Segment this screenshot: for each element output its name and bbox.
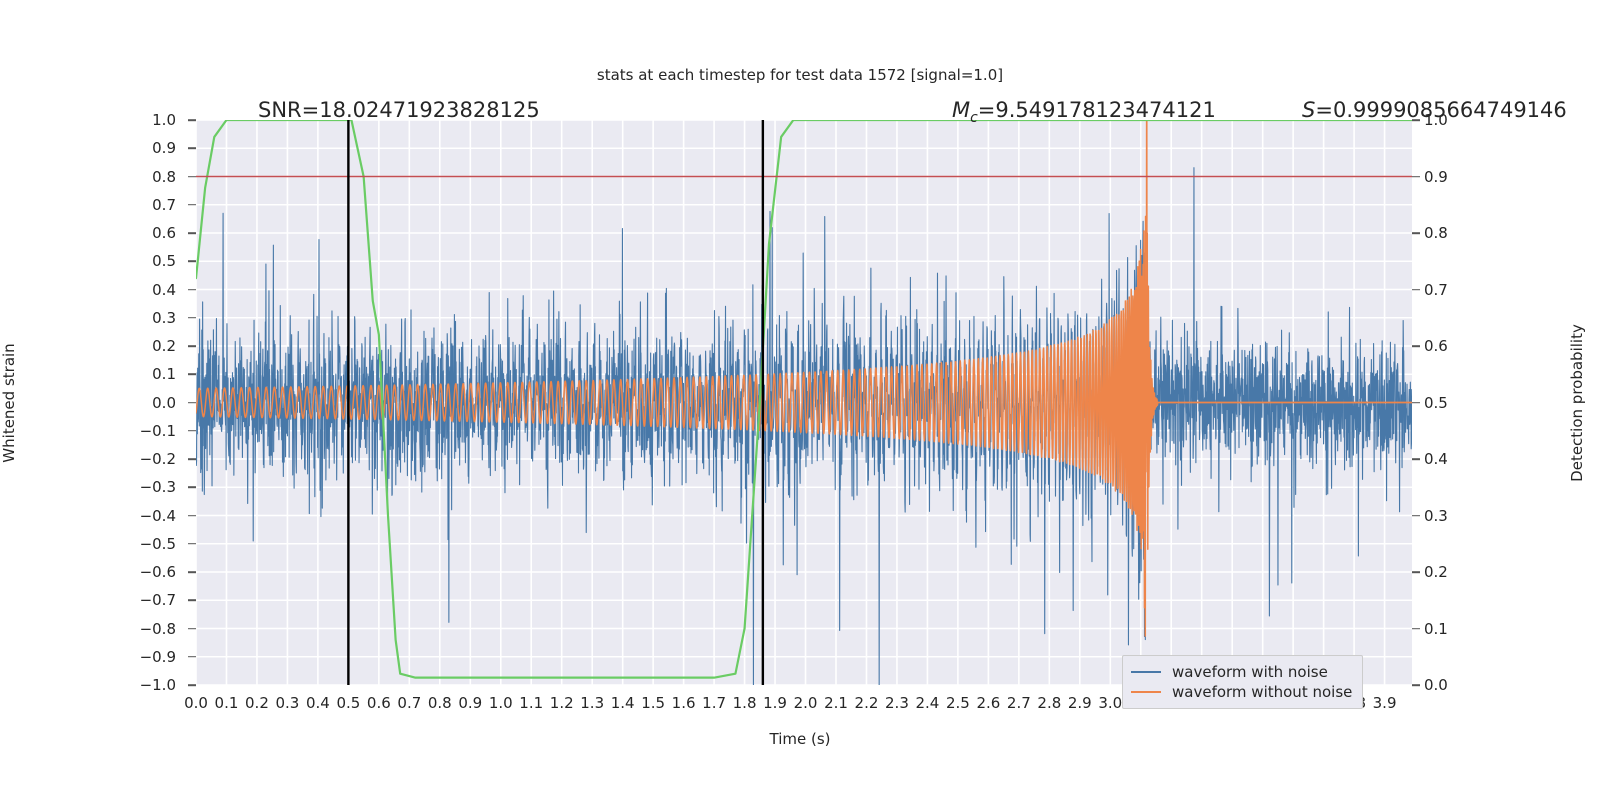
- y-tick-label-left: 0.8: [152, 168, 188, 186]
- x-tick-label: 1.9: [763, 694, 787, 712]
- y-tick-label-left: −0.5: [140, 535, 188, 553]
- annotation-chirp-mass-value: 9.549178123474121: [995, 98, 1215, 122]
- y-tick-mark-left: [188, 345, 196, 347]
- x-tick-label: 0.6: [367, 694, 391, 712]
- y-tick-label-right: 0.5: [1424, 394, 1448, 412]
- annotation-score-symbol: S: [1302, 98, 1315, 122]
- y-tick-mark-left: [188, 204, 196, 206]
- y-axis-label-right: Detection probability: [1568, 324, 1586, 482]
- y-tick-mark-left: [188, 373, 196, 375]
- y-tick-mark-left: [188, 232, 196, 234]
- x-tick-label: 2.9: [1068, 694, 1092, 712]
- x-tick-label: 1.8: [733, 694, 757, 712]
- x-tick-label: 1.3: [580, 694, 604, 712]
- y-tick-label-left: 0.9: [152, 139, 188, 157]
- legend-swatch: [1131, 671, 1161, 673]
- y-tick-mark-right: [1412, 515, 1420, 517]
- legend-item[interactable]: waveform without noise: [1131, 682, 1352, 702]
- y-tick-mark-left: [188, 599, 196, 601]
- x-tick-label: 0.2: [245, 694, 269, 712]
- x-tick-label: 0.3: [275, 694, 299, 712]
- y-tick-mark-left: [188, 317, 196, 319]
- plot-area: [196, 120, 1412, 685]
- y-tick-mark-left: [188, 656, 196, 658]
- x-tick-label: 0.8: [428, 694, 452, 712]
- plot-canvas: [196, 120, 1412, 685]
- x-tick-label: 1.0: [489, 694, 513, 712]
- y-tick-mark-left: [188, 486, 196, 488]
- y-tick-mark-left: [188, 402, 196, 404]
- annotation-score: S=0.9999085664749146: [1302, 98, 1567, 122]
- y-tick-label-right: 0.8: [1424, 224, 1448, 242]
- x-tick-label: 1.1: [519, 694, 543, 712]
- y-tick-label-right: 0.2: [1424, 563, 1448, 581]
- y-tick-label-left: −0.3: [140, 478, 188, 496]
- annotation-snr: SNR=18.02471923828125: [258, 98, 540, 122]
- x-tick-label: 0.5: [336, 694, 360, 712]
- x-tick-label: 3.9: [1373, 694, 1397, 712]
- y-tick-mark-right: [1412, 402, 1420, 404]
- annotation-snr-value: 18.02471923828125: [319, 98, 539, 122]
- y-tick-label-left: −1.0: [140, 676, 188, 694]
- y-tick-label-left: −0.9: [140, 648, 188, 666]
- annotation-snr-prefix: SNR=: [258, 98, 319, 122]
- x-tick-label: 0.1: [215, 694, 239, 712]
- y-tick-label-left: −0.4: [140, 507, 188, 525]
- y-tick-label-left: 0.6: [152, 224, 188, 242]
- x-tick-label: 1.6: [672, 694, 696, 712]
- y-axis-label-left: Whitened strain: [0, 343, 18, 462]
- annotation-chirp-mass-prefix: =: [978, 98, 996, 122]
- annotation-chirp-mass: Mc=9.549178123474121: [952, 98, 1216, 126]
- y-tick-label-right: 0.3: [1424, 507, 1448, 525]
- y-tick-mark-left: [188, 147, 196, 149]
- y-tick-mark-right: [1412, 571, 1420, 573]
- y-tick-mark-right: [1412, 232, 1420, 234]
- x-tick-label: 2.4: [915, 694, 939, 712]
- x-tick-label: 0.0: [184, 694, 208, 712]
- y-tick-mark-left: [188, 571, 196, 573]
- y-tick-label-left: −0.7: [140, 591, 188, 609]
- y-tick-label-left: 0.3: [152, 309, 188, 327]
- y-tick-mark-left: [188, 628, 196, 630]
- y-tick-label-left: 0.0: [152, 394, 188, 412]
- y-tick-mark-left: [188, 515, 196, 517]
- y-tick-label-left: −0.1: [140, 422, 188, 440]
- y-tick-mark-right: [1412, 176, 1420, 178]
- annotation-chirp-mass-subscript: c: [970, 110, 978, 126]
- x-tick-label: 2.0: [794, 694, 818, 712]
- y-tick-mark-left: [188, 543, 196, 545]
- annotation-chirp-mass-symbol: M: [952, 98, 970, 122]
- x-tick-label: 2.7: [1007, 694, 1031, 712]
- x-tick-label: 3.0: [1098, 694, 1122, 712]
- x-tick-label: 2.1: [824, 694, 848, 712]
- x-tick-label: 0.7: [397, 694, 421, 712]
- chart-title: stats at each timestep for test data 157…: [0, 66, 1600, 84]
- y-tick-mark-left: [188, 684, 196, 686]
- y-tick-mark-right: [1412, 628, 1420, 630]
- x-tick-label: 2.8: [1037, 694, 1061, 712]
- y-tick-mark-left: [188, 260, 196, 262]
- y-tick-mark-left: [188, 119, 196, 121]
- x-tick-label: 1.4: [611, 694, 635, 712]
- x-tick-label: 1.7: [702, 694, 726, 712]
- x-tick-label: 1.5: [641, 694, 665, 712]
- y-tick-label-left: 1.0: [152, 111, 188, 129]
- x-tick-label: 2.6: [976, 694, 1000, 712]
- y-tick-label-right: 0.0: [1424, 676, 1448, 694]
- y-tick-label-left: −0.8: [140, 620, 188, 638]
- x-tick-label: 0.9: [458, 694, 482, 712]
- y-tick-label-left: −0.2: [140, 450, 188, 468]
- x-tick-label: 2.5: [946, 694, 970, 712]
- legend[interactable]: waveform with noisewaveform without nois…: [1122, 655, 1363, 709]
- y-tick-label-right: 0.7: [1424, 281, 1448, 299]
- x-tick-label: 2.2: [855, 694, 879, 712]
- x-axis-label: Time (s): [0, 730, 1600, 748]
- y-tick-mark-right: [1412, 684, 1420, 686]
- figure: stats at each timestep for test data 157…: [0, 0, 1600, 800]
- legend-item[interactable]: waveform with noise: [1131, 662, 1352, 682]
- y-tick-label-right: 0.9: [1424, 168, 1448, 186]
- y-tick-label-left: 0.2: [152, 337, 188, 355]
- x-tick-label: 2.3: [885, 694, 909, 712]
- x-tick-label: 0.4: [306, 694, 330, 712]
- y-tick-mark-left: [188, 176, 196, 178]
- x-tick-label: 1.2: [550, 694, 574, 712]
- y-tick-mark-left: [188, 289, 196, 291]
- y-tick-mark-right: [1412, 289, 1420, 291]
- legend-label: waveform with noise: [1172, 663, 1328, 681]
- annotation-score-prefix: =: [1315, 98, 1333, 122]
- y-tick-label-right: 0.1: [1424, 620, 1448, 638]
- legend-swatch: [1131, 691, 1161, 693]
- y-tick-mark-right: [1412, 458, 1420, 460]
- y-tick-label-right: 0.4: [1424, 450, 1448, 468]
- y-tick-mark-left: [188, 458, 196, 460]
- y-tick-mark-right: [1412, 345, 1420, 347]
- y-tick-label-left: −0.6: [140, 563, 188, 581]
- y-tick-label-left: 0.4: [152, 281, 188, 299]
- legend-label: waveform without noise: [1172, 683, 1352, 701]
- y-tick-label-right: 0.6: [1424, 337, 1448, 355]
- annotation-score-value: 0.9999085664749146: [1333, 98, 1567, 122]
- y-tick-label-left: 0.5: [152, 252, 188, 270]
- y-tick-label-left: 0.1: [152, 365, 188, 383]
- y-tick-label-left: 0.7: [152, 196, 188, 214]
- y-tick-mark-left: [188, 430, 196, 432]
